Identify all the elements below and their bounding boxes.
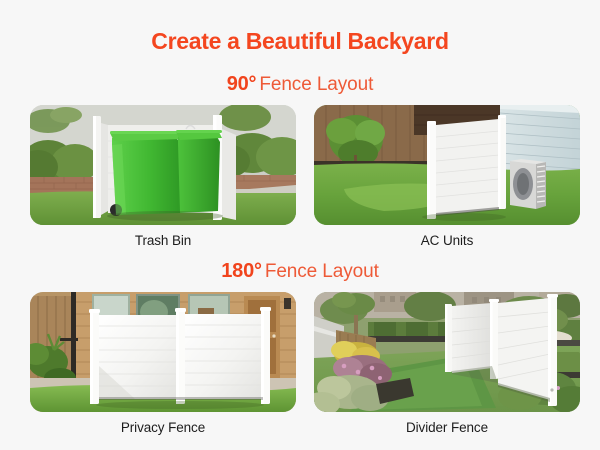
section-label-90: Fence Layout	[259, 74, 373, 95]
section-degree-90: 90°	[227, 73, 257, 95]
section-label-180: Fence Layout	[265, 261, 379, 282]
photo-privacy-fence	[30, 292, 296, 412]
page-title: Create a Beautiful Backyard	[30, 0, 570, 53]
photo-divider-fence	[314, 292, 580, 412]
trash-bin-right	[176, 130, 222, 213]
card-trash-bin[interactable]: Trash Bin	[30, 105, 296, 248]
photo-trash-bin	[30, 105, 296, 225]
caption-divider-fence: Divider Fence	[314, 412, 580, 435]
card-row-180: Privacy Fence	[30, 292, 570, 435]
promo-page: Create a Beautiful Backyard 90°Fence Lay…	[0, 0, 600, 450]
card-ac-units[interactable]: AC Units	[314, 105, 580, 248]
section-heading-180: 180°Fence Layout	[30, 248, 570, 281]
card-privacy-fence[interactable]: Privacy Fence	[30, 292, 296, 435]
caption-privacy-fence: Privacy Fence	[30, 412, 296, 435]
section-degree-180: 180°	[221, 260, 262, 282]
ac-unit-illustration	[314, 105, 580, 225]
white-fence-panel	[427, 115, 506, 219]
privacy-fence-illustration	[30, 292, 296, 412]
caption-ac-units: AC Units	[314, 225, 580, 248]
trash-bin-left	[110, 131, 182, 216]
card-divider-fence[interactable]: Divider Fence	[314, 292, 580, 435]
trash-bin-illustration	[30, 105, 296, 225]
photo-ac-units	[314, 105, 580, 225]
card-row-90: Trash Bin	[30, 105, 570, 248]
divider-fence-illustration	[314, 292, 580, 412]
caption-trash-bin: Trash Bin	[30, 225, 296, 248]
ac-condenser-unit	[510, 159, 546, 209]
section-heading-90: 90°Fence Layout	[30, 53, 570, 94]
